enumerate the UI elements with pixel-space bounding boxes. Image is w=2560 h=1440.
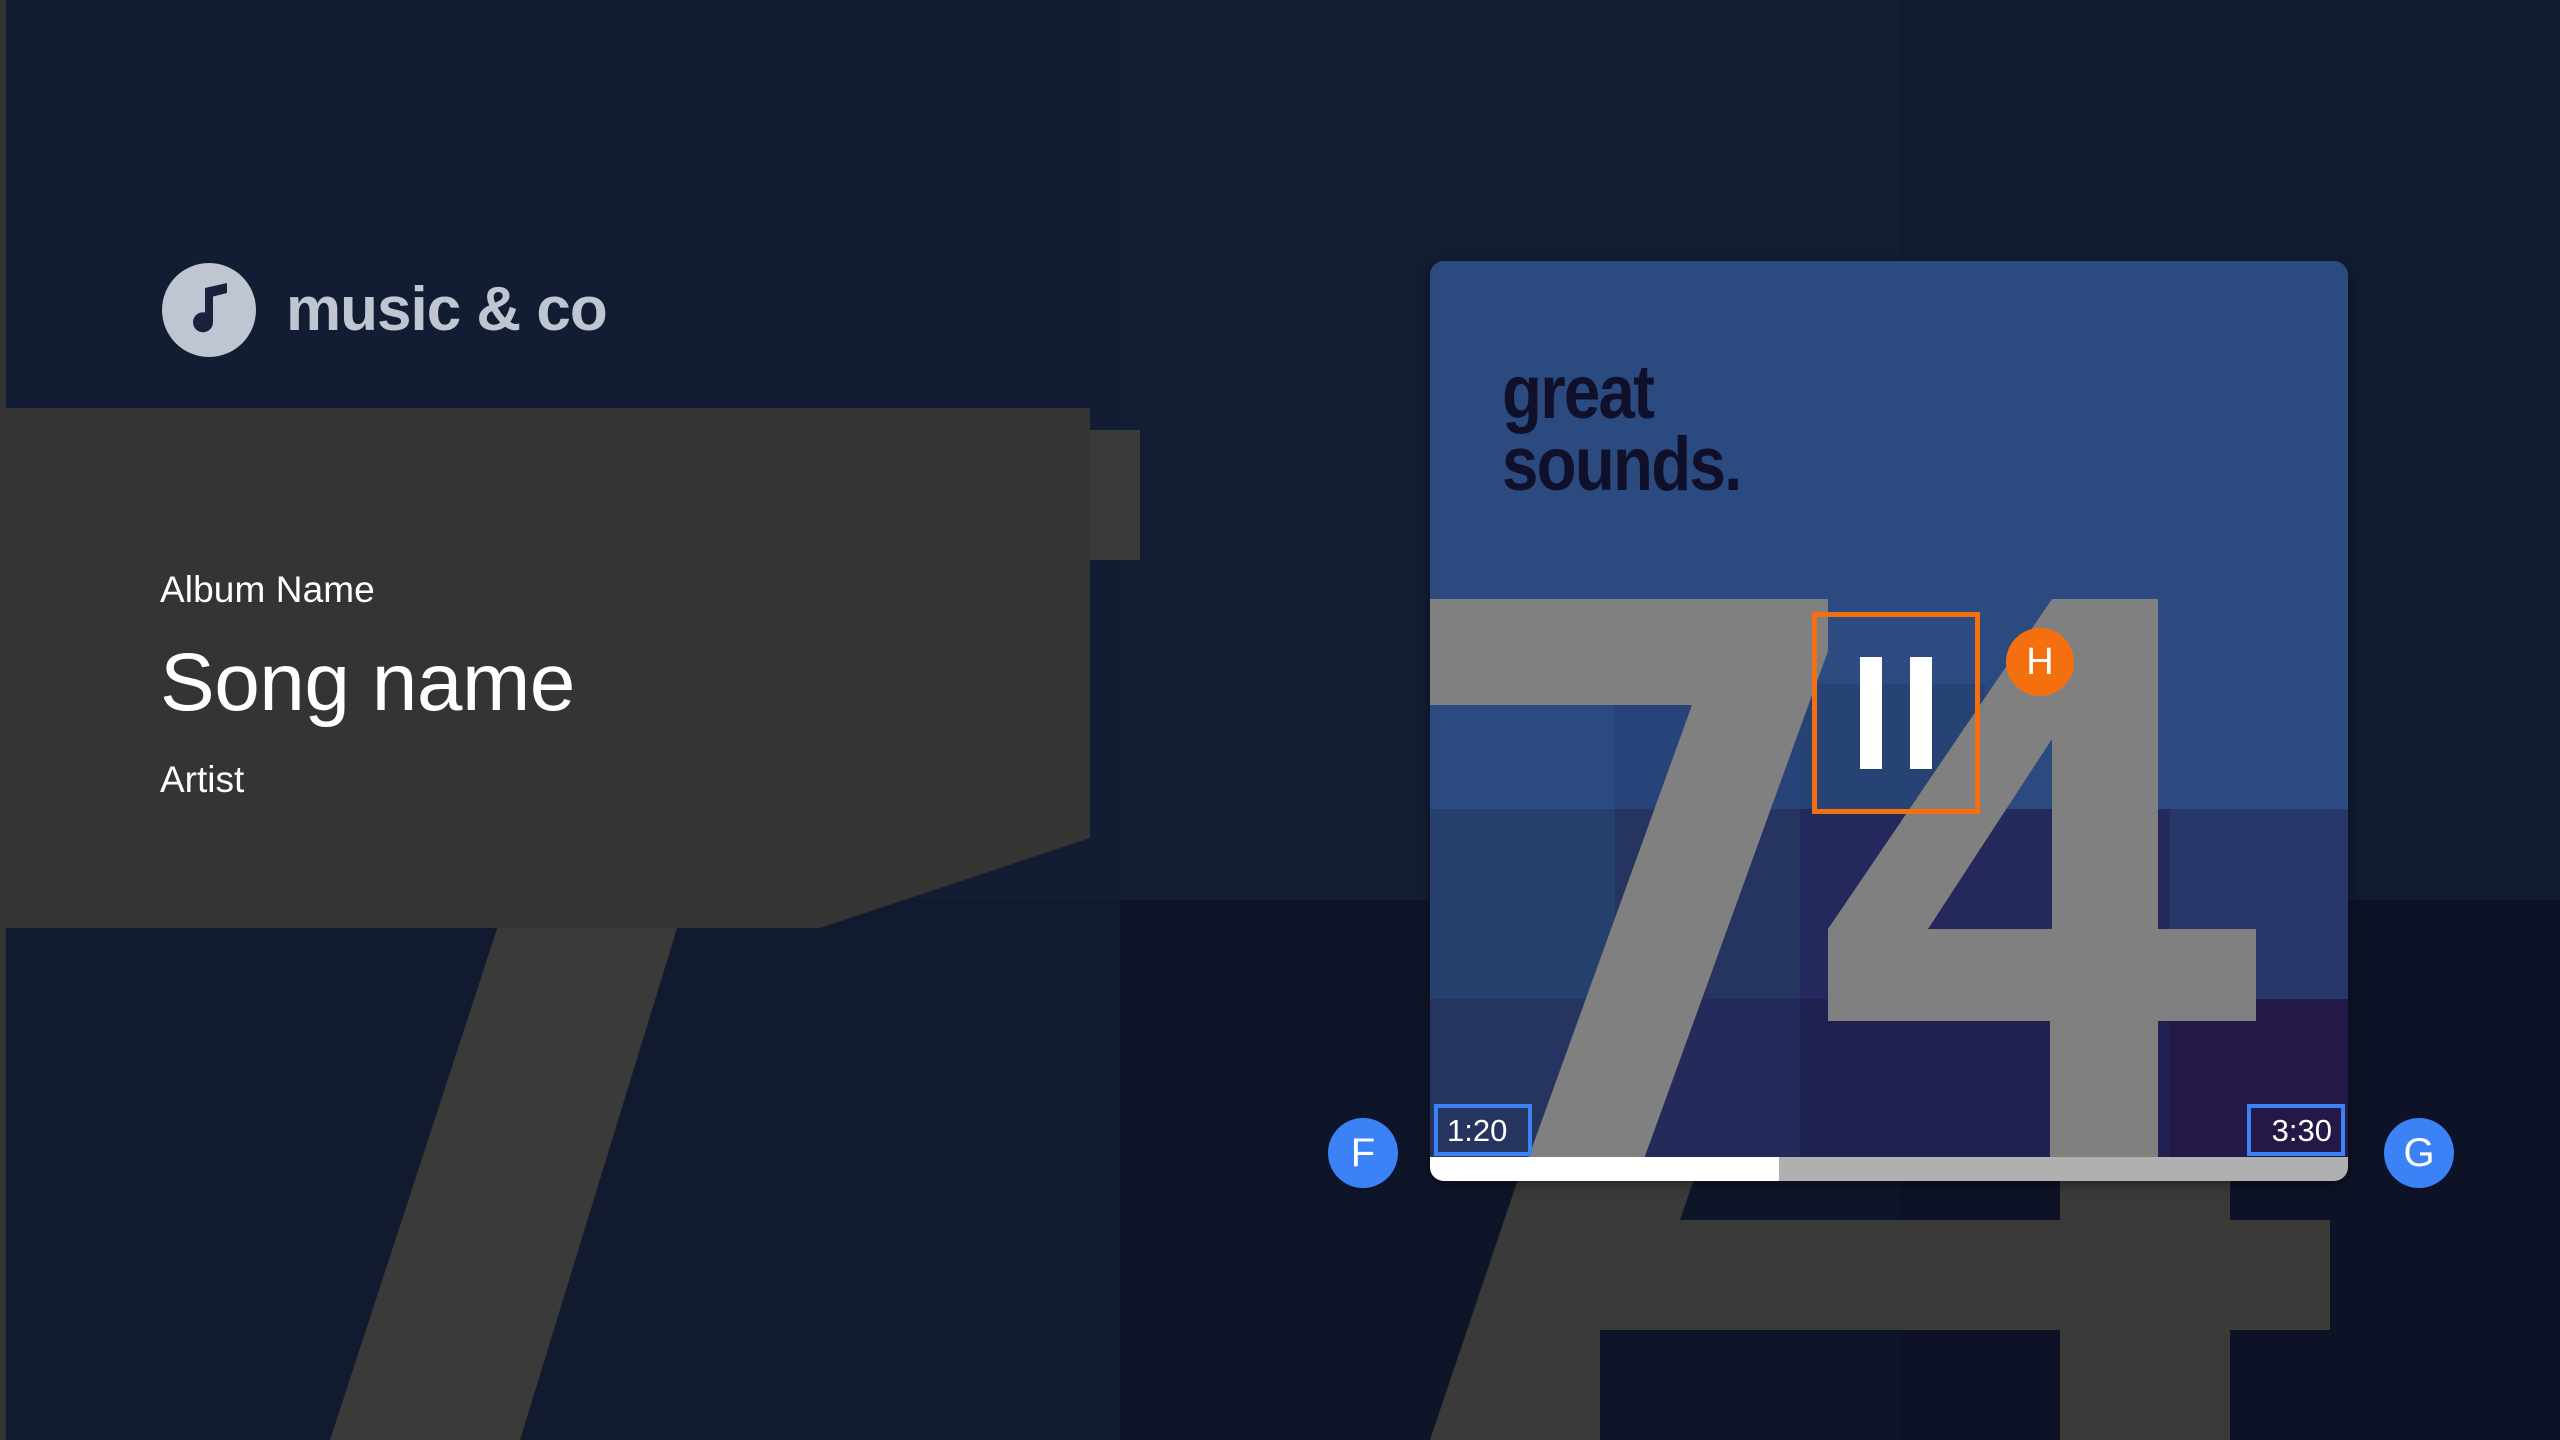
annotation-badge-f-label: F xyxy=(1351,1133,1375,1173)
music-player-screen: music & co Album Name Song name Artist xyxy=(0,0,2560,1440)
music-note-icon xyxy=(162,263,256,357)
artist-name: Artist xyxy=(160,759,575,801)
pause-icon-bar-left xyxy=(1860,657,1882,769)
total-time-label[interactable]: 3:30 xyxy=(2247,1104,2345,1156)
annotation-badge-h-label: H xyxy=(2026,643,2053,681)
annotation-badge-f[interactable]: F xyxy=(1328,1118,1398,1188)
current-time-value: 1:20 xyxy=(1447,1115,1507,1146)
progress-bar-fill xyxy=(1430,1157,1779,1181)
progress-bar[interactable] xyxy=(1430,1157,2348,1181)
artwork-caption: great sounds. xyxy=(1502,357,1741,501)
annotation-badge-g-label: G xyxy=(2403,1133,2434,1173)
current-time-label[interactable]: 1:20 xyxy=(1434,1104,1532,1156)
left-edge-strip xyxy=(0,0,6,1440)
pause-icon-bar-right xyxy=(1910,657,1932,769)
track-metadata: Album Name Song name Artist xyxy=(160,570,575,801)
total-time-value: 3:30 xyxy=(2272,1115,2332,1146)
brand-name: music & co xyxy=(286,279,607,341)
album-name: Album Name xyxy=(160,570,575,611)
artwork-caption-line-2: sounds. xyxy=(1502,429,1741,501)
song-title: Song name xyxy=(160,637,575,729)
annotation-badge-g[interactable]: G xyxy=(2384,1118,2454,1188)
brand-logo[interactable]: music & co xyxy=(162,263,607,357)
annotation-badge-h[interactable]: H xyxy=(2006,628,2074,696)
artwork-caption-line-1: great xyxy=(1502,357,1741,429)
pause-button[interactable] xyxy=(1813,613,1978,813)
